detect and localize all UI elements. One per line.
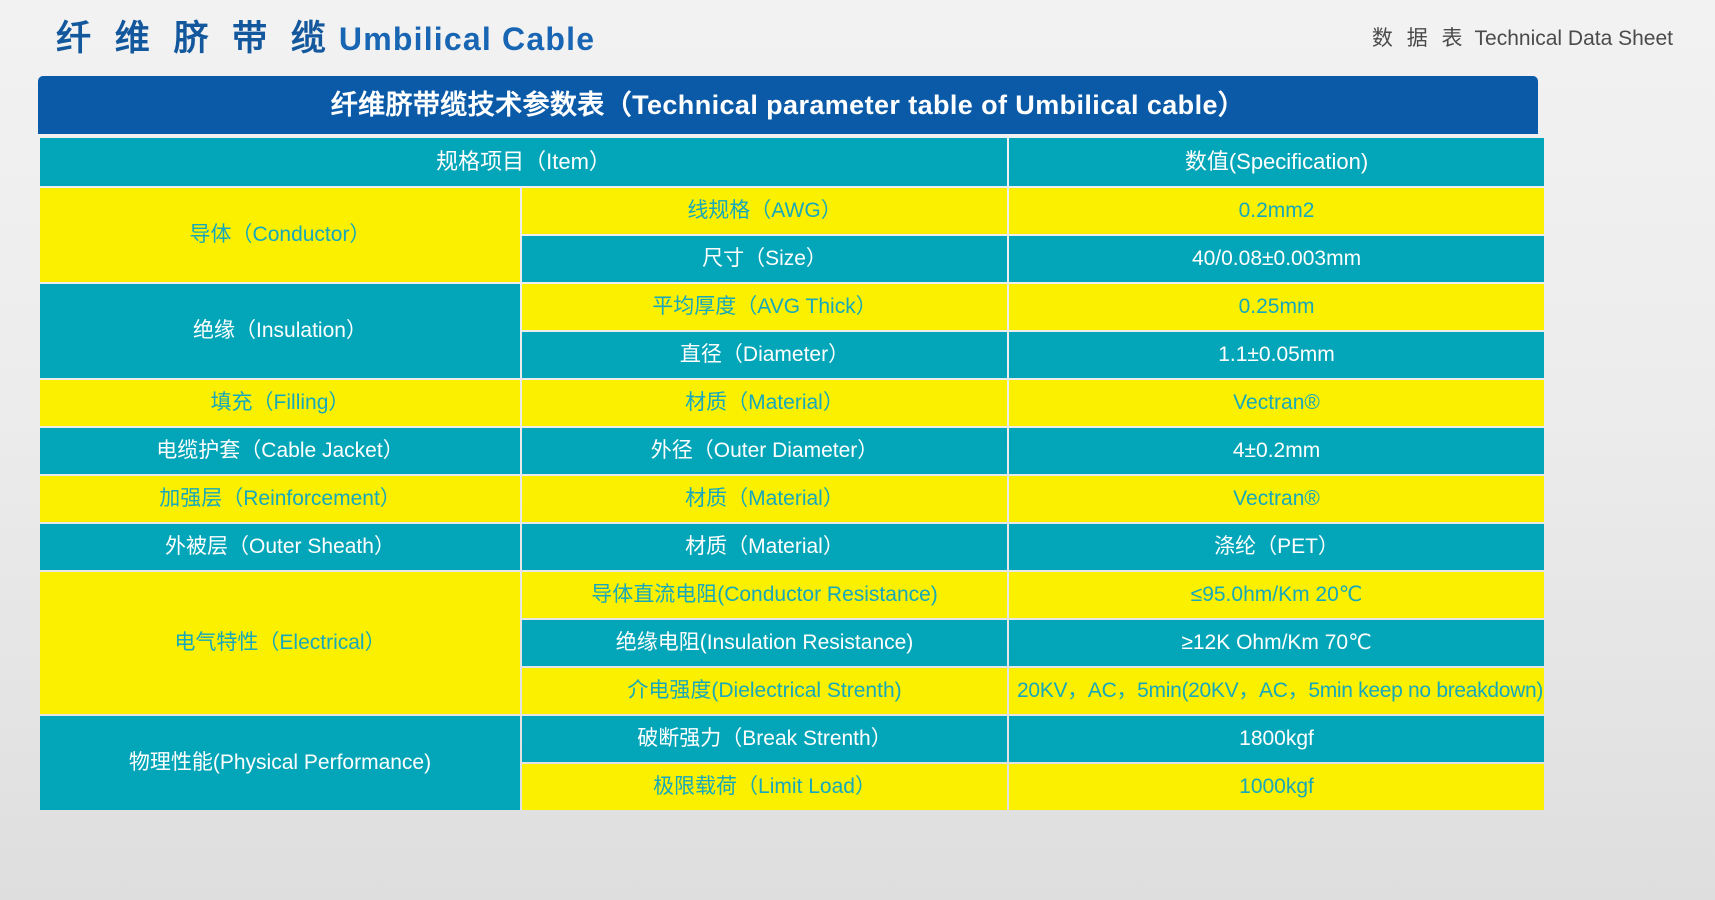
- row-parameter-label: 导体直流电阻(Conductor Resistance): [522, 572, 1007, 618]
- sheet-label-chinese: 数 据 表: [1372, 28, 1467, 49]
- row-parameter-label: 平均厚度（AVG Thick）: [522, 284, 1007, 330]
- row-group-label: 填充（Filling）: [40, 380, 520, 426]
- row-group-label: 电缆护套（Cable Jacket）: [40, 428, 520, 474]
- sheet-label-english: Technical Data Sheet: [1475, 28, 1673, 49]
- row-value: ≥12K Ohm/Km 70℃: [1009, 620, 1544, 666]
- row-group-label: 外被层（Outer Sheath）: [40, 524, 520, 570]
- row-parameter-label: 极限载荷（Limit Load）: [522, 764, 1007, 810]
- row-parameter-label: 绝缘电阻(Insulation Resistance): [522, 620, 1007, 666]
- brand-title-chinese: 纤 维 脐 带 缆: [56, 21, 333, 56]
- table-row: 物理性能(Physical Performance)破断强力（Break Str…: [40, 716, 1544, 762]
- row-parameter-label: 直径（Diameter）: [522, 332, 1007, 378]
- row-value: 4±0.2mm: [1009, 428, 1544, 474]
- row-parameter-label: 材质（Material）: [522, 380, 1007, 426]
- row-value: ≤95.0hm/Km 20℃: [1009, 572, 1544, 618]
- table-row: 外被层（Outer Sheath）材质（Material）涤纶（PET）: [40, 524, 1544, 570]
- row-value: Vectran®: [1009, 476, 1544, 522]
- row-value: 20KV，AC，5min(20KV，AC，5min keep no breakd…: [1009, 668, 1544, 714]
- table-row: 绝缘（Insulation）平均厚度（AVG Thick）0.25mm: [40, 284, 1544, 330]
- row-group-label: 导体（Conductor）: [40, 188, 520, 282]
- row-value: 1000kgf: [1009, 764, 1544, 810]
- row-parameter-label: 外径（Outer Diameter）: [522, 428, 1007, 474]
- row-parameter-label: 尺寸（Size）: [522, 236, 1007, 282]
- row-group-label: 电气特性（Electrical）: [40, 572, 520, 714]
- row-parameter-label: 破断强力（Break Strenth）: [522, 716, 1007, 762]
- row-group-label: 加强层（Reinforcement）: [40, 476, 520, 522]
- table-header-row: 规格项目（Item） 数值(Specification): [40, 138, 1544, 186]
- brand-title: 纤 维 脐 带 缆 Umbilical Cable: [56, 21, 595, 56]
- row-value: 1800kgf: [1009, 716, 1544, 762]
- row-parameter-label: 介电强度(Dielectrical Strenth): [522, 668, 1007, 714]
- table-row: 填充（Filling）材质（Material）Vectran®: [40, 380, 1544, 426]
- spec-table-title: 纤维脐带缆技术参数表（Technical parameter table of …: [38, 76, 1538, 134]
- table-row: 导体（Conductor）线规格（AWG）0.2mm2: [40, 188, 1544, 234]
- table-row: 加强层（Reinforcement）材质（Material）Vectran®: [40, 476, 1544, 522]
- row-value: 0.2mm2: [1009, 188, 1544, 234]
- column-header-specification: 数值(Specification): [1009, 138, 1544, 186]
- row-parameter-label: 材质（Material）: [522, 524, 1007, 570]
- page-header: 纤 维 脐 带 缆 Umbilical Cable 数 据 表 Technica…: [0, 0, 1715, 76]
- row-group-label: 物理性能(Physical Performance): [40, 716, 520, 810]
- row-value: 0.25mm: [1009, 284, 1544, 330]
- row-value: 1.1±0.05mm: [1009, 332, 1544, 378]
- row-value: Vectran®: [1009, 380, 1544, 426]
- row-parameter-label: 线规格（AWG）: [522, 188, 1007, 234]
- spec-table-wrapper: 纤维脐带缆技术参数表（Technical parameter table of …: [38, 76, 1538, 812]
- row-group-label: 绝缘（Insulation）: [40, 284, 520, 378]
- brand-title-english: Umbilical Cable: [339, 23, 595, 55]
- spec-table: 规格项目（Item） 数值(Specification) 导体（Conducto…: [38, 136, 1546, 812]
- table-row: 电气特性（Electrical）导体直流电阻(Conductor Resista…: [40, 572, 1544, 618]
- sheet-label: 数 据 表 Technical Data Sheet: [1372, 28, 1691, 49]
- row-parameter-label: 材质（Material）: [522, 476, 1007, 522]
- table-row: 电缆护套（Cable Jacket）外径（Outer Diameter）4±0.…: [40, 428, 1544, 474]
- row-value: 涤纶（PET）: [1009, 524, 1544, 570]
- row-value: 40/0.08±0.003mm: [1009, 236, 1544, 282]
- column-header-item: 规格项目（Item）: [40, 138, 1007, 186]
